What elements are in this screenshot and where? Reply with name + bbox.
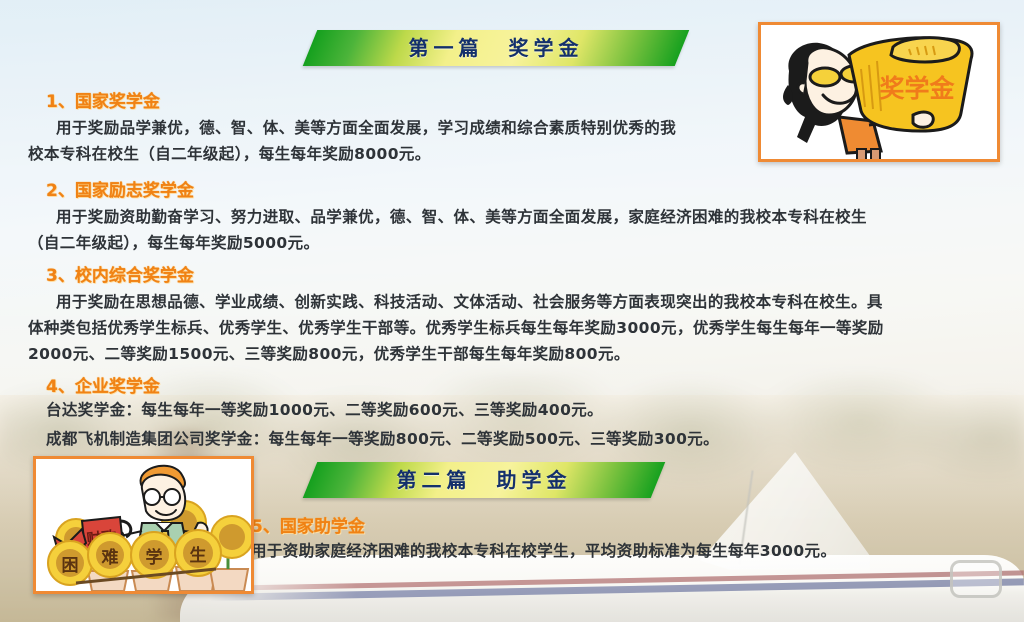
- section-1-line-1: 用于奖励品学兼优，德、智、体、美等方面全面发展，学习成绩和综合素质特别优秀的我: [56, 116, 676, 138]
- section-heading-national-encouragement-scholarship: 2、国家励志奖学金: [46, 176, 194, 201]
- section-4-line-1: 台达奖学金：每生每年一等奖励1000元、二等奖励600元、三等奖励400元。: [46, 398, 603, 420]
- sunflower-watering-cartoon-icon: 财政 困 难 学: [36, 459, 251, 591]
- section-heading-national-scholarship: 1、国家奖学金: [46, 87, 160, 112]
- poster-page: 第一篇 奖学金 第二篇 助学金 1、国家奖学金 用于奖励品学兼优，德、智、体、美…: [0, 0, 1024, 622]
- gold-ingot-cartoon-icon: 奖学金: [761, 25, 997, 159]
- illustration-grant-sunflowers: 财政 困 难 学: [33, 456, 254, 594]
- section-2-line-1: 用于奖励资助勤奋学习、努力进取、品学兼优，德、智、体、美等方面全面发展，家庭经济…: [56, 205, 867, 227]
- section-5-line-1: 用于资助家庭经济困难的我校本专科在校学生，平均资助标准为每生每年3000元。: [251, 539, 836, 561]
- illustration-scholarship-ingot: 奖学金: [758, 22, 1000, 162]
- section-heading-national-grant: 5、国家助学金: [251, 512, 365, 537]
- section-heading-enterprise-scholarship: 4、企业奖学金: [46, 372, 160, 397]
- ingot-label-text: 奖学金: [879, 74, 955, 103]
- section-3-line-2: 体种类包括优秀学生标兵、优秀学生、优秀学生干部等。优秀学生标兵每生每年奖励300…: [28, 316, 884, 338]
- sunflower-label-1: 难: [101, 547, 119, 568]
- section-4-line-2: 成都飞机制造集团公司奖学金：每生每年一等奖励800元、二等奖励500元、三等奖励…: [46, 427, 719, 449]
- section-1-line-2: 校本专科在校生（自二年级起），每生每年奖励8000元。: [28, 142, 431, 164]
- section-3-line-3: 2000元、二等奖励1500元、三等奖励800元，优秀学生干部每生每年奖励800…: [28, 342, 630, 364]
- sunflower-label-2: 学: [146, 547, 163, 568]
- sunflower-label-0: 困: [62, 556, 79, 576]
- sunflower-label-3: 生: [190, 545, 207, 566]
- section-2-line-2: （自二年级起），每生每年奖励5000元。: [28, 231, 319, 253]
- section-3-line-1: 用于奖励在思想品德、学业成绩、创新实践、科技活动、文体活动、社会服务等方面表现突…: [56, 290, 883, 312]
- section-heading-campus-comprehensive-scholarship: 3、校内综合奖学金: [46, 261, 194, 286]
